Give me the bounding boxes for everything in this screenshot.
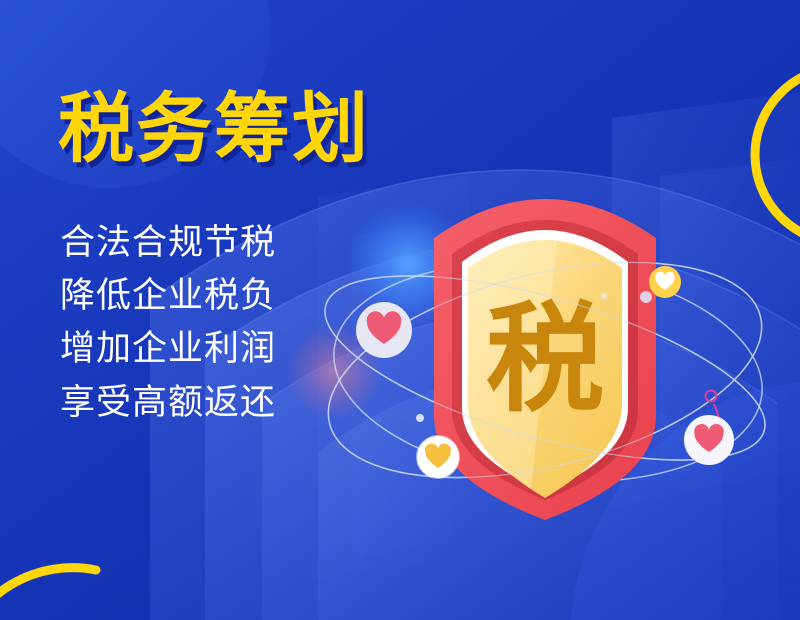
benefit-item-3: 增加企业利润 [60,322,276,375]
benefit-item-1: 合法合规节税 [60,216,276,269]
benefit-item-2: 降低企业税负 [60,269,276,322]
benefit-list: 合法合规节税 降低企业税负 增加企业利润 享受高额返还 [60,216,276,429]
tax-planning-banner: 税 [0,0,800,620]
copy-block: 税务筹划 合法合规节税 降低企业税负 增加企业利润 享受高额返还 [0,0,420,620]
benefit-item-4: 享受高额返还 [60,376,276,429]
page-title: 税务筹划 [58,92,370,168]
